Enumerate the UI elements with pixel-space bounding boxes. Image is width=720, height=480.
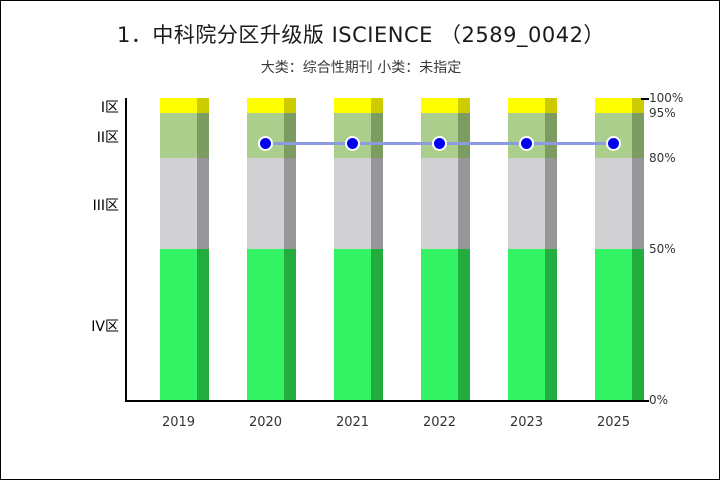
bar-segment-side-I区 <box>284 98 296 113</box>
bar-segment-III区 <box>421 158 458 249</box>
bar-segment-side-III区 <box>371 158 383 249</box>
tier-label-III区: III区 <box>93 195 119 215</box>
bar-segment-I区 <box>508 98 545 113</box>
bar-segment-III区 <box>160 158 197 249</box>
tier-label-I区: I区 <box>101 97 119 117</box>
bar-front <box>421 98 458 400</box>
bar-side-shadow <box>371 98 383 400</box>
bar-segment-I区 <box>421 98 458 113</box>
bar-segment-I区 <box>160 98 197 113</box>
x-axis-label-2021: 2021 <box>323 415 383 430</box>
bar-segment-side-III区 <box>197 158 209 249</box>
bar-segment-IV区 <box>160 249 197 400</box>
y-axis-line <box>125 98 127 402</box>
x-axis-label-2020: 2020 <box>236 415 296 430</box>
x-axis-label-2025: 2025 <box>584 415 644 430</box>
bar-segment-II区 <box>334 113 371 158</box>
tier-label-IV区: IV区 <box>91 316 119 336</box>
bar-segment-IV区 <box>334 249 371 400</box>
bar-segment-II区 <box>247 113 284 158</box>
bar-segment-IV区 <box>508 249 545 400</box>
percent-tick-label: 0% <box>649 393 668 407</box>
percent-tick-label: 50% <box>649 242 676 256</box>
bar-side-shadow <box>458 98 470 400</box>
y-axis-tick <box>641 400 649 402</box>
x-axis-label-2019: 2019 <box>149 415 209 430</box>
bar-side-shadow <box>545 98 557 400</box>
bar-segment-side-IV区 <box>545 249 557 400</box>
bar-segment-side-II区 <box>197 113 209 158</box>
bar-segment-side-III区 <box>632 158 644 249</box>
bar-segment-side-I区 <box>197 98 209 113</box>
bar-segment-II区 <box>508 113 545 158</box>
bar-segment-side-IV区 <box>371 249 383 400</box>
bar-segment-IV区 <box>247 249 284 400</box>
bar-segment-side-II区 <box>545 113 557 158</box>
bar-segment-III区 <box>595 158 632 249</box>
bar-segment-side-I区 <box>632 98 644 113</box>
bar-segment-I区 <box>595 98 632 113</box>
bar-segment-II区 <box>421 113 458 158</box>
bar-segment-side-II区 <box>284 113 296 158</box>
bar-segment-side-III区 <box>545 158 557 249</box>
bar-side-shadow <box>632 98 644 400</box>
bar-front <box>595 98 632 400</box>
bar-segment-side-IV区 <box>458 249 470 400</box>
bar-front <box>508 98 545 400</box>
bar-segment-side-II区 <box>458 113 470 158</box>
bar-segment-side-III区 <box>458 158 470 249</box>
y-axis-tick <box>641 98 649 100</box>
bar-segment-side-IV区 <box>197 249 209 400</box>
bar-segment-I区 <box>247 98 284 113</box>
plot-area <box>125 98 637 402</box>
percent-tick-label: 95% <box>649 106 676 120</box>
percent-tick-label: 100% <box>649 91 683 105</box>
bar-front <box>247 98 284 400</box>
bar-segment-side-IV区 <box>284 249 296 400</box>
chart-subtitle: 大类：综合性期刊 小类：未指定 <box>1 57 720 77</box>
percent-tick-label: 80% <box>649 151 676 165</box>
bar-segment-side-II区 <box>632 113 644 158</box>
bar-segment-side-III区 <box>284 158 296 249</box>
bar-segment-side-I区 <box>545 98 557 113</box>
page-title: 1．中科院分区升级版 ISCIENCE （2589_0042） <box>1 19 720 49</box>
bar-side-shadow <box>197 98 209 400</box>
tier-label-II区: II区 <box>97 127 119 147</box>
percent-axis: 0%50%80%95%100% <box>649 98 709 408</box>
chart-page: 1．中科院分区升级版 ISCIENCE （2589_0042） 大类：综合性期刊… <box>0 0 720 480</box>
bar-front <box>160 98 197 400</box>
bar-front <box>334 98 371 400</box>
bar-segment-III区 <box>334 158 371 249</box>
bar-segment-II区 <box>160 113 197 158</box>
bar-segment-side-I区 <box>458 98 470 113</box>
bar-segment-IV区 <box>595 249 632 400</box>
bar-side-shadow <box>284 98 296 400</box>
x-axis-label-2022: 2022 <box>410 415 470 430</box>
x-axis-line <box>125 400 641 402</box>
bar-segment-side-II区 <box>371 113 383 158</box>
x-axis-labels: 201920202021202220232025 <box>125 415 641 435</box>
bar-segment-side-I区 <box>371 98 383 113</box>
tier-axis: I区II区III区IV区 <box>61 98 119 402</box>
bar-segment-III区 <box>247 158 284 249</box>
bar-segment-II区 <box>595 113 632 158</box>
bar-segment-IV区 <box>421 249 458 400</box>
bar-segment-side-IV区 <box>632 249 644 400</box>
bar-segment-I区 <box>334 98 371 113</box>
bar-segment-III区 <box>508 158 545 249</box>
x-axis-label-2023: 2023 <box>497 415 557 430</box>
